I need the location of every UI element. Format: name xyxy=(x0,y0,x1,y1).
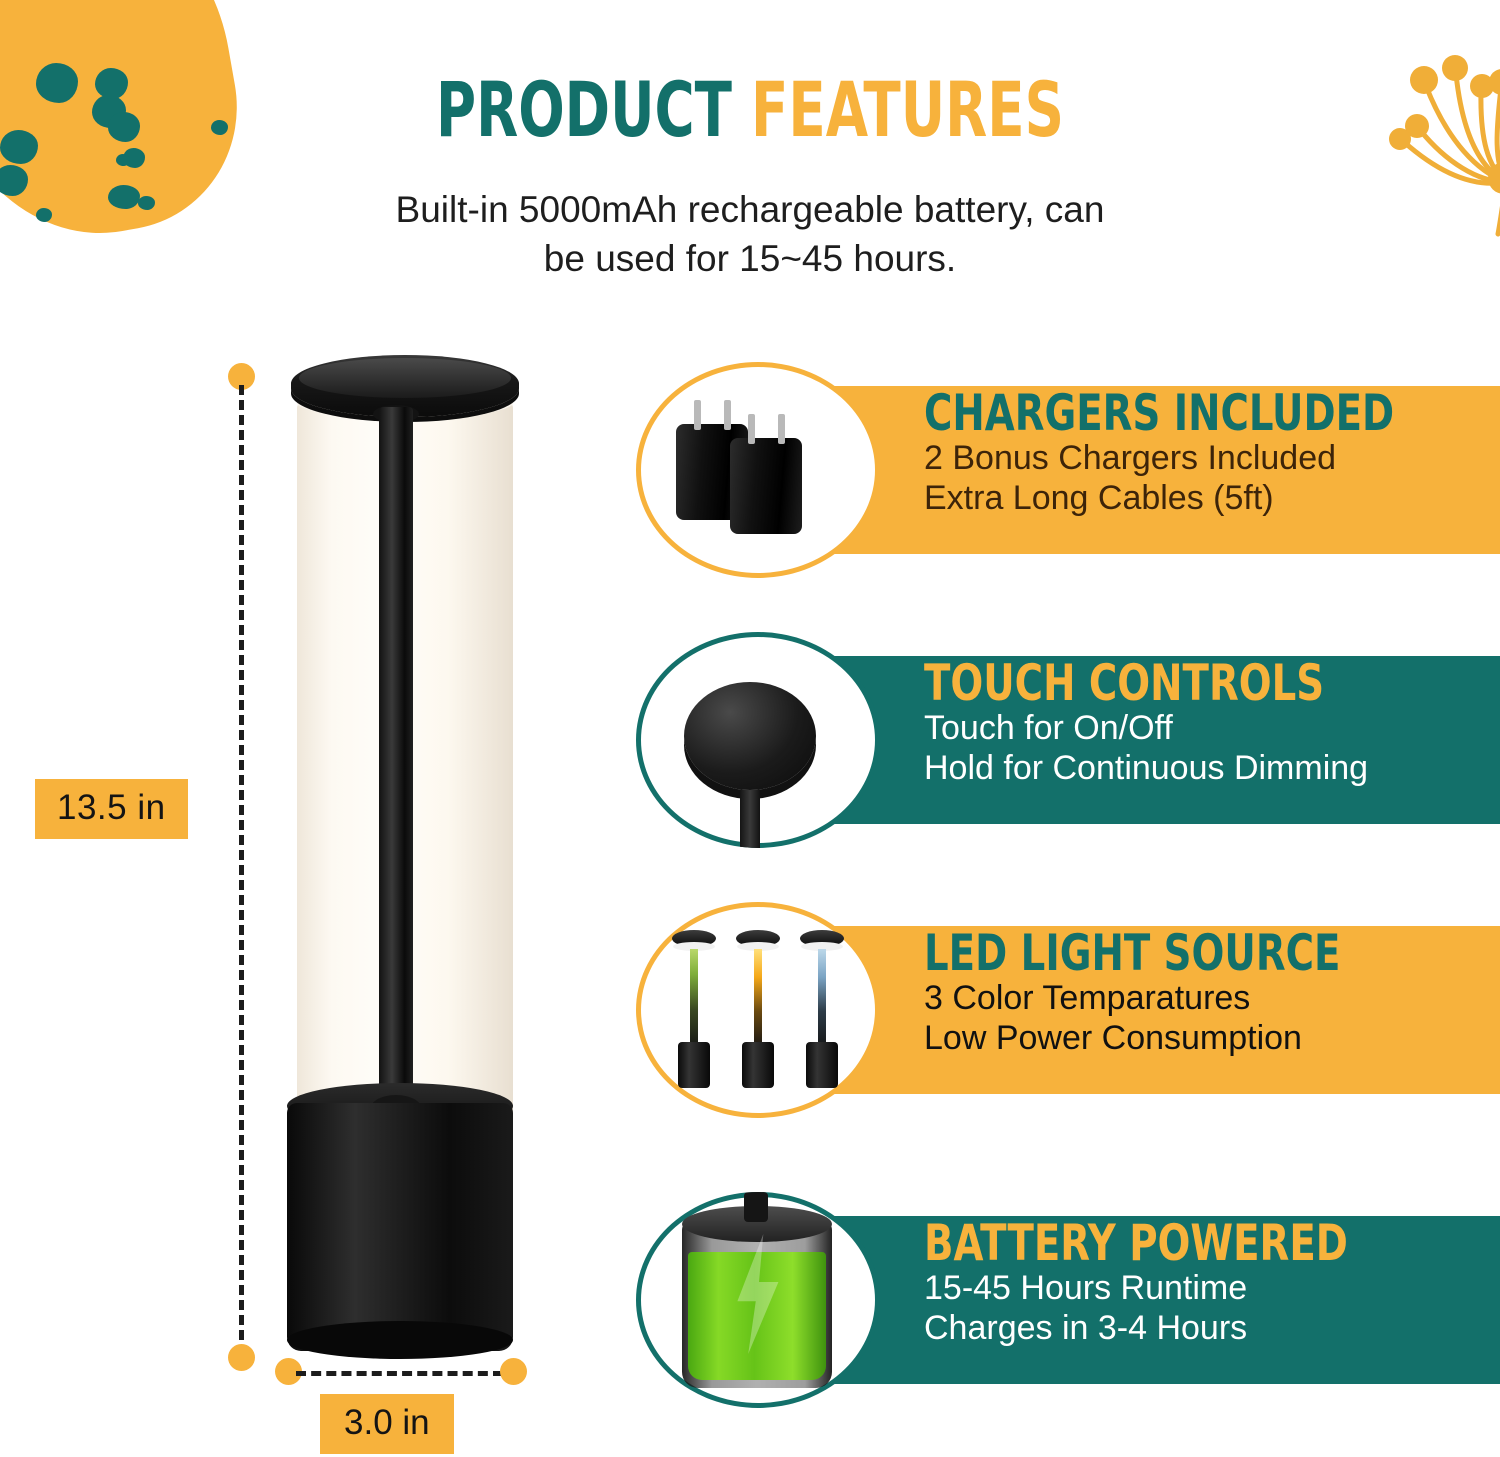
touch-puck-icon xyxy=(636,632,880,848)
feature-heading: BATTERY POWERED xyxy=(924,1218,1419,1269)
mini-lamp-stem xyxy=(818,949,826,1049)
mini-lamp-base xyxy=(742,1042,774,1088)
lamp-stem xyxy=(379,407,413,1127)
page-title-part2: FEATURES xyxy=(751,65,1064,154)
touch-button-puck xyxy=(684,682,816,790)
width-dimension-line xyxy=(296,1371,503,1376)
teal-dot xyxy=(116,154,130,166)
mini-lamp-stem xyxy=(690,949,698,1049)
lamp-top-disc-face xyxy=(299,358,511,398)
product-image-lamp xyxy=(275,355,535,1365)
battery-cylinder-icon xyxy=(636,1192,880,1408)
feature-row-touch-controls: TOUCH CONTROLS Touch for On/Off Hold for… xyxy=(636,632,1500,848)
page-title-part1: PRODUCT xyxy=(436,65,751,154)
subtitle-line-2: be used for 15~45 hours. xyxy=(230,234,1270,283)
dandelion-sprig-icon xyxy=(1338,22,1500,237)
mini-lamp-green xyxy=(672,930,716,1088)
feature-line-2: Charges in 3-4 Hours xyxy=(924,1309,1500,1349)
feature-line-2: Hold for Continuous Dimming xyxy=(924,749,1500,789)
charger-prong xyxy=(778,414,785,444)
lamp-base xyxy=(287,1103,513,1351)
three-lamps-icon xyxy=(636,902,880,1118)
height-dimension-line xyxy=(239,385,244,1370)
feature-row-led-light-source: LED LIGHT SOURCE 3 Color Temparatures Lo… xyxy=(636,902,1500,1118)
feature-line-1: 15-45 Hours Runtime xyxy=(924,1269,1500,1309)
teal-dot xyxy=(36,208,52,222)
mini-lamp-cool xyxy=(800,930,844,1088)
feature-text-block: TOUCH CONTROLS Touch for On/Off Hold for… xyxy=(924,658,1500,789)
teal-dot xyxy=(108,112,140,142)
feature-heading: CHARGERS INCLUDED xyxy=(924,388,1419,439)
charger-prong xyxy=(748,414,755,444)
feature-row-chargers: CHARGERS INCLUDED 2 Bonus Chargers Inclu… xyxy=(636,362,1500,578)
feature-line-1: Touch for On/Off xyxy=(924,709,1500,749)
battery-stem xyxy=(744,1192,768,1222)
feature-line-2: Extra Long Cables (5ft) xyxy=(924,479,1500,519)
feature-line-2: Low Power Consumption xyxy=(924,1019,1500,1059)
teal-dot xyxy=(95,68,128,99)
height-badge: 13.5 in xyxy=(35,779,188,839)
charger-prong xyxy=(694,400,701,430)
width-badge: 3.0 in xyxy=(320,1394,454,1454)
teal-dot xyxy=(138,196,155,210)
feature-heading: LED LIGHT SOURCE xyxy=(924,928,1419,979)
charger-body-front xyxy=(730,438,802,534)
teal-dot xyxy=(108,185,140,209)
mini-lamp-base xyxy=(806,1042,838,1088)
feature-line-1: 3 Color Temparatures xyxy=(924,979,1500,1019)
touch-button-stem xyxy=(740,790,760,848)
usb-wall-chargers-icon xyxy=(636,362,880,578)
feature-text-block: CHARGERS INCLUDED 2 Bonus Chargers Inclu… xyxy=(924,388,1500,519)
feature-heading: TOUCH CONTROLS xyxy=(924,658,1419,709)
height-line-bottom-endpoint xyxy=(228,1344,255,1371)
feature-text-block: LED LIGHT SOURCE 3 Color Temparatures Lo… xyxy=(924,928,1500,1059)
mini-lamp-stem xyxy=(754,949,762,1049)
lamp-base-bottom-ellipse xyxy=(287,1321,513,1359)
mini-lamp-warm xyxy=(736,930,780,1088)
feature-line-1: 2 Bonus Chargers Included xyxy=(924,439,1500,479)
charger-prong xyxy=(724,400,731,430)
feature-row-battery-powered: BATTERY POWERED 15-45 Hours Runtime Char… xyxy=(636,1192,1500,1408)
page-subtitle: Built-in 5000mAh rechargeable battery, c… xyxy=(230,185,1270,283)
teal-dot xyxy=(0,130,38,164)
subtitle-line-1: Built-in 5000mAh rechargeable battery, c… xyxy=(230,185,1270,234)
mini-lamp-base xyxy=(678,1042,710,1088)
decoration-top-right xyxy=(1338,22,1500,237)
page-title: PRODUCT FEATURES xyxy=(150,72,1350,148)
teal-dot xyxy=(36,63,78,103)
feature-text-block: BATTERY POWERED 15-45 Hours Runtime Char… xyxy=(924,1218,1500,1349)
